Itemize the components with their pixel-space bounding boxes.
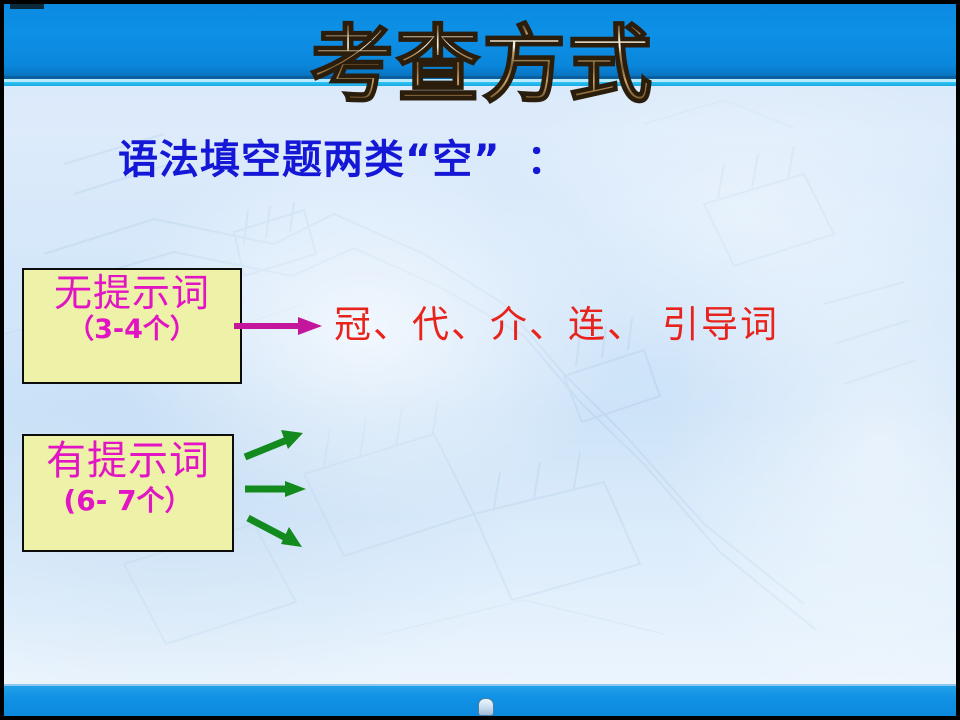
slide-canvas: 考查方式 语法填空题两类“空”： 无提示词 （3-4个） 有提示词 (6- 7个… <box>0 0 960 720</box>
callout-box-no-hint-title: 无提示词 <box>24 274 240 314</box>
subtitle: 语法填空题两类“空”： <box>118 140 568 180</box>
page-title: 考查方式 <box>272 14 692 118</box>
grammar-category-list-tail: 引导词 <box>662 303 779 346</box>
callout-box-has-hint[interactable]: 有提示词 (6- 7个） <box>22 434 234 552</box>
grammar-category-list: 冠、代、介、连、引导词 <box>334 306 779 343</box>
callout-box-no-hint[interactable]: 无提示词 （3-4个） <box>22 268 242 384</box>
footer-knob <box>478 698 494 716</box>
subtitle-colon: ： <box>527 137 568 183</box>
callout-box-no-hint-count: （3-4个） <box>24 316 240 344</box>
callout-box-has-hint-count: (6- 7个） <box>24 486 232 515</box>
page-title-text: 考查方式 <box>310 16 654 114</box>
grammar-category-list-head: 冠、代、介、连、 <box>334 303 646 346</box>
subtitle-text: 语法填空题两类“空” <box>118 137 501 183</box>
header-corner-mark <box>10 4 44 9</box>
callout-box-has-hint-title: 有提示词 <box>24 440 232 482</box>
